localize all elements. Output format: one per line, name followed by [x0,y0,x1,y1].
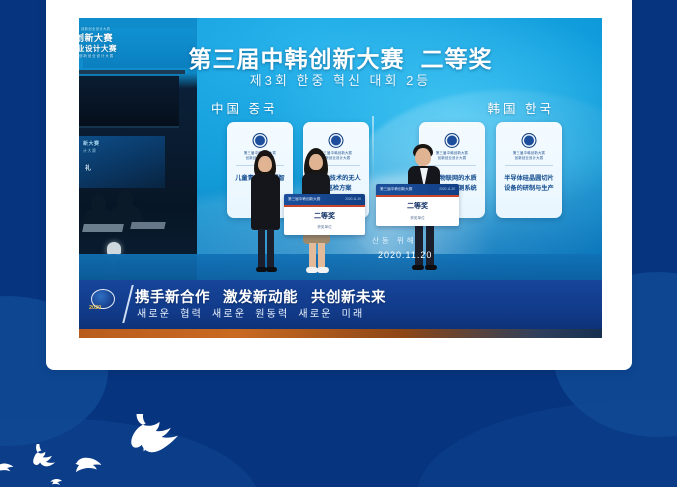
competition-seal-icon [445,133,460,148]
award-certificate: 第三届中韩创新大赛 2020.11.20 二等奖 获奖单位 [376,184,459,226]
placard-divider [505,165,553,166]
placard-org-line2: 创新创业设计大赛 [496,156,562,161]
side-screen-line-tiny: 创新创业设计大赛 [81,28,111,31]
certificate-header-bar: 第三届中韩创新大赛 2020.11.20 [284,194,365,205]
competition-seal-icon [253,133,268,148]
award-certificate: 第三届中韩创新大赛 2020.11.20 二等奖 获奖单位 [284,194,365,235]
country-label-china-kr: 중국 [249,102,278,116]
event-date-text: 2020.11.20 [378,250,432,260]
competition-seal-icon [329,133,344,148]
side-display-line-3: 礼 [85,166,92,172]
project-placard: 第三届中韩创新大赛 创新创业设计大赛 半导体硅晶圆切片设备的研制与生产 [496,122,562,218]
certificate-header-title: 第三届中韩创新大赛 [288,197,320,202]
person-leg-right [426,225,434,267]
person-leg-left [415,225,423,267]
certificate-award-text: 二等奖 [284,211,365,221]
country-label-korea-cn: 韩国 [487,102,518,116]
slogan-kr-part-4: 원동력 [255,309,289,320]
person-head [258,156,272,172]
content-card: 创新创业设计大赛 创新大赛 业设计大赛 创新创业设计大赛 新大赛 计大赛 礼 [46,0,632,370]
led-center-divider [372,116,374,178]
slogan-kr-part-5: 새로운 [298,309,332,320]
slogan-kr-part-1: 새로운 [137,309,171,320]
certificate-subtext: 获奖单位 [376,216,459,221]
side-display-line-1: 新大赛 [83,142,100,147]
slogan-kr-part-3: 새로운 [212,309,246,320]
competition-seal-icon [522,133,537,148]
person-body [251,174,280,230]
dove-icon-tiny-bottom [48,477,64,487]
competition-logo-icon: 2020 [89,288,123,314]
placard-project-name: 半导体硅晶圆切片设备的研制与生产 [502,174,556,194]
person-head [415,148,431,166]
certificate-header-date: 2020.11.20 [345,197,361,201]
country-label-china-cn: 中国 [211,102,242,116]
slogan-cn-part-1: 携手新合作 [135,290,210,306]
person-shoe-right [425,265,437,270]
certificate-header-title: 第三届中韩创新大赛 [380,187,412,192]
award-ceremony-photograph: 创新创业设计大赛 创新大赛 业设计大赛 创新创业设计大赛 新大赛 计大赛 礼 [79,18,602,338]
dove-icon-small [72,452,102,474]
venue-location-text: 산동 위해 [372,235,417,246]
person-leg-left [309,243,316,269]
dove-icon-large [118,410,184,460]
slogan-kr-part-2: 협력 [180,309,203,320]
side-display-line-2: 计大赛 [83,149,97,153]
certificate-award-text: 二等奖 [376,201,459,211]
certificate-header-date: 2020.11.20 [439,187,455,191]
led-title-korean: 제3회 한중 혁신 대회 2등 [79,70,602,89]
country-label-korea-kr: 한국 [525,102,554,116]
photo-frame: 创新创业设计大赛 创新大赛 业设计大赛 创新创业设计大赛 新大赛 计大赛 礼 [79,18,602,338]
person-leg-right [267,229,274,269]
country-label-china: 中国 중국 [211,98,278,117]
stage-slogan-banner: 2020 携手新合作激发新动能共创新未来 새로운협력새로운원동력새로운미래 [79,280,602,330]
page-root: 创新创业设计大赛 创新大赛 业设计大赛 创新创业设计大赛 新大赛 计大赛 礼 [0,0,677,487]
led-title-prize: 二等奖 [421,46,493,72]
banner-slash-divider [122,285,133,323]
slogan-korean: 새로운협력새로운원동력새로운미래 [137,305,596,320]
slogan-chinese: 携手新合作激发新动能共创新未来 [135,286,596,307]
stage-floor [79,254,602,282]
certificate-accent-line [284,205,365,207]
led-title-main: 第三届中韩创新大赛二等奖 [79,40,602,74]
certificate-header-bar: 第三届中韩创新大赛 2020.11.20 [376,184,459,195]
person-shoe-right [317,267,329,273]
stage-front-edge [79,329,602,338]
country-label-korea: 韩国 한국 [487,98,554,117]
slogan-kr-part-6: 미래 [342,309,365,320]
person-leg-left [258,229,265,269]
decorative-arc-bottom-right [417,400,677,487]
dove-icon-tiny-left [0,460,16,476]
person-head [309,154,323,170]
logo-year: 2020 [89,305,101,311]
audience-laptop-1 [82,224,124,232]
placard-org: 第三届中韩创新大赛 创新创业设计大赛 [496,151,562,161]
person-leg-right [318,243,325,269]
dove-icon-medium [28,442,60,467]
slogan-cn-part-2: 激发新动能 [223,290,298,306]
certificate-subtext: 获奖单位 [284,225,365,230]
audience-laptop-2 [130,222,165,229]
certificate-accent-line [376,195,459,197]
led-title-chinese: 第三届中韩创新大赛 [189,46,405,72]
slogan-cn-part-3: 共创新未来 [311,290,386,306]
person-shoe-left [412,265,424,270]
person-shoe-right [266,267,277,272]
